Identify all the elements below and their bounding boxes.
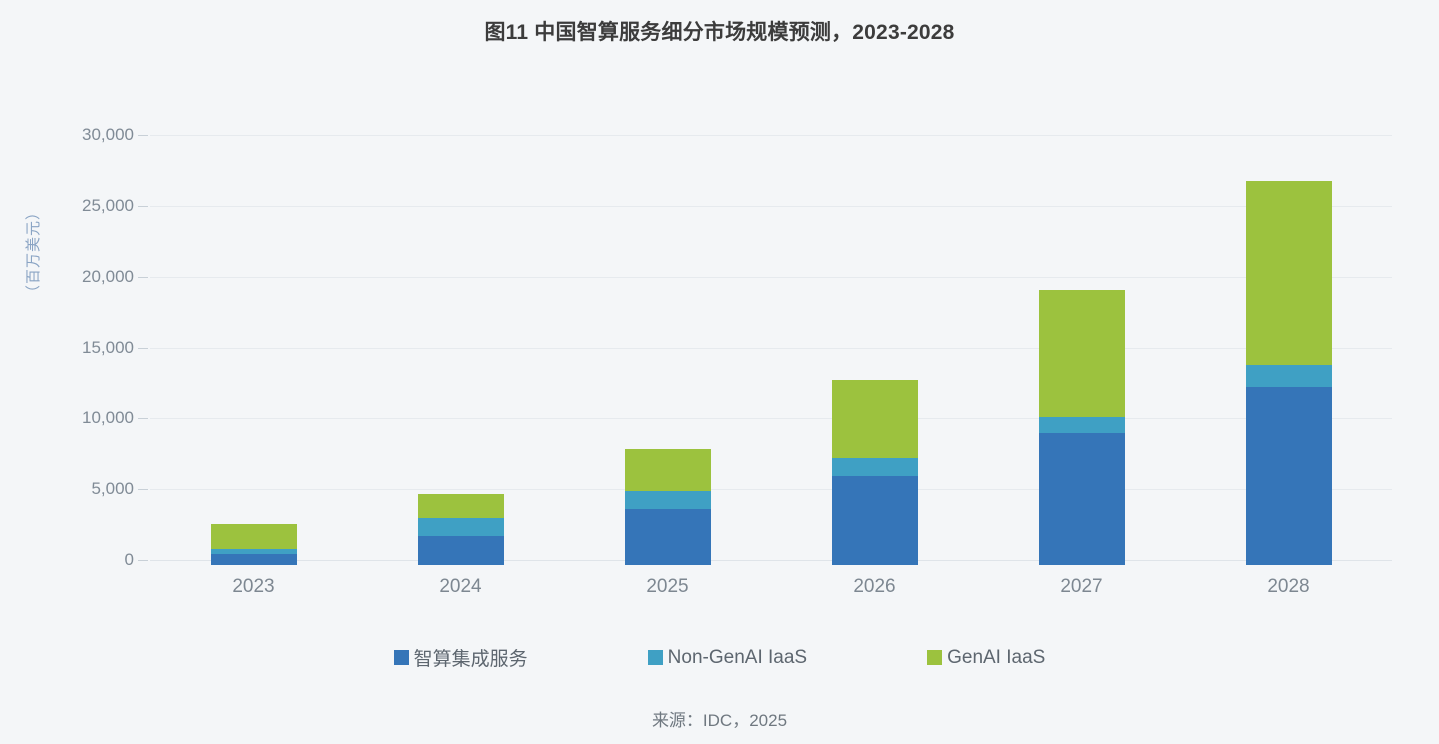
gridline — [150, 206, 1392, 207]
x-tick-label-2025: 2025 — [588, 576, 748, 598]
bar-group-2028[interactable] — [1246, 181, 1332, 565]
bar-segment-2027-series-0[interactable] — [1039, 433, 1125, 565]
bar-segment-2026-series-0[interactable] — [832, 476, 918, 565]
bar-group-2027[interactable] — [1039, 290, 1125, 565]
legend-swatch-icon-2 — [927, 650, 942, 665]
bar-group-2025[interactable] — [625, 449, 711, 565]
bar-segment-2024-series-2[interactable] — [418, 494, 504, 517]
legend-label-1: Non-GenAI IaaS — [668, 647, 807, 669]
bar-segment-2024-series-1[interactable] — [418, 518, 504, 536]
axis-baseline — [150, 560, 1392, 561]
chart-legend: 智算集成服务Non-GenAI IaaSGenAI IaaS — [0, 644, 1439, 671]
plot-area — [150, 130, 1392, 565]
bar-segment-2027-series-2[interactable] — [1039, 290, 1125, 417]
source-note: 来源：IDC，2025 — [0, 706, 1439, 731]
bar-segment-2025-series-1[interactable] — [625, 491, 711, 509]
gridline — [150, 277, 1392, 278]
legend-swatch-icon-0 — [394, 650, 409, 665]
y-tick-mark — [138, 348, 148, 349]
chart-title: 图11 中国智算服务细分市场规模预测，2023-2028 — [0, 16, 1439, 46]
gridline — [150, 135, 1392, 136]
legend-label-0: 智算集成服务 — [414, 644, 528, 671]
y-tick-label: 25,000 — [24, 196, 134, 216]
y-tick-mark — [138, 560, 148, 561]
bar-group-2024[interactable] — [418, 494, 504, 565]
bar-segment-2024-series-0[interactable] — [418, 536, 504, 565]
bar-segment-2027-series-1[interactable] — [1039, 417, 1125, 433]
y-tick-label: 10,000 — [24, 408, 134, 428]
x-tick-label-2023: 2023 — [174, 576, 334, 598]
y-tick-mark — [138, 206, 148, 207]
bar-segment-2025-series-0[interactable] — [625, 509, 711, 565]
legend-item-2[interactable]: GenAI IaaS — [927, 647, 1045, 669]
gridline — [150, 489, 1392, 490]
x-tick-label-2024: 2024 — [381, 576, 541, 598]
x-tick-label-2028: 2028 — [1209, 576, 1369, 598]
bar-group-2023[interactable] — [211, 524, 297, 565]
legend-label-2: GenAI IaaS — [947, 647, 1045, 669]
bar-segment-2023-series-0[interactable] — [211, 554, 297, 565]
gridline — [150, 418, 1392, 419]
y-tick-label: 30,000 — [24, 125, 134, 145]
bar-segment-2026-series-1[interactable] — [832, 458, 918, 476]
bar-segment-2023-series-2[interactable] — [211, 524, 297, 549]
bar-segment-2026-series-2[interactable] — [832, 380, 918, 457]
bar-segment-2028-series-1[interactable] — [1246, 365, 1332, 387]
chart-figure: 图11 中国智算服务细分市场规模预测，2023-2028 （百万美元） 05,0… — [0, 0, 1439, 744]
y-tick-mark — [138, 489, 148, 490]
bar-segment-2028-series-2[interactable] — [1246, 181, 1332, 365]
y-tick-label: 15,000 — [24, 338, 134, 358]
y-tick-mark — [138, 418, 148, 419]
legend-swatch-icon-1 — [648, 650, 663, 665]
bar-segment-2028-series-0[interactable] — [1246, 387, 1332, 565]
y-tick-mark — [138, 135, 148, 136]
y-tick-label: 0 — [24, 550, 134, 570]
legend-item-0[interactable]: 智算集成服务 — [394, 644, 528, 671]
y-tick-label: 5,000 — [24, 479, 134, 499]
y-tick-label: 20,000 — [24, 267, 134, 287]
bar-segment-2025-series-2[interactable] — [625, 449, 711, 492]
bar-group-2026[interactable] — [832, 380, 918, 565]
x-tick-label-2027: 2027 — [1002, 576, 1162, 598]
y-tick-mark — [138, 277, 148, 278]
gridline — [150, 348, 1392, 349]
x-tick-label-2026: 2026 — [795, 576, 955, 598]
legend-item-1[interactable]: Non-GenAI IaaS — [648, 647, 807, 669]
